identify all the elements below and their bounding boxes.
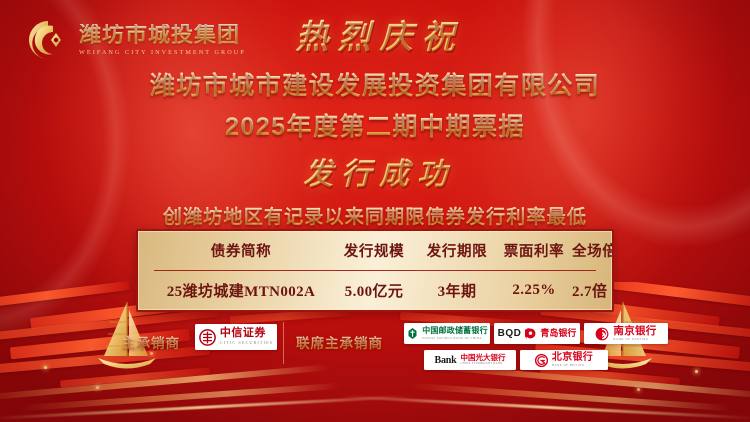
bank-of-beijing-logo: 北京银行 BANK OF BEIJING [520, 350, 608, 370]
bqd-name-cn: 青岛银行 [540, 329, 576, 338]
ceb-name-cn: 中国光大银行 [461, 354, 506, 362]
cell-subscription-multiple: 2.7倍 [572, 280, 607, 301]
company-name-title: 潍坊市城市建设发展投资集团有限公司 [0, 66, 750, 102]
column-header-term: 发行期限 [418, 240, 496, 261]
subtitle-text: 创潍坊地区有记录以来同期限债券发行利率最低 [0, 202, 750, 229]
bank-of-nanjing-logo: 南京银行 BANK OF NANJING [584, 323, 668, 344]
citic-securities-logo: 中信证券 CITIC SECURITIES [195, 324, 277, 350]
underwriter-divider [283, 322, 284, 364]
underwriter-strip: 主承销商 中信证券 CITIC SECURITIES 联席主承销商 中国邮政储蓄… [0, 320, 750, 382]
issue-title: 2025年度第二期中期票据 [0, 107, 750, 143]
cell-bond-name: 25潍坊城建MTN002A [152, 280, 330, 301]
citic-name-cn: 中信证券 [220, 328, 273, 339]
column-header-bond-name: 债券简称 [152, 240, 330, 261]
citic-securities-logo-icon [199, 329, 216, 346]
brand-name-cn: 潍坊市城投集团 [79, 24, 246, 46]
ceb-wordmark: Bank [435, 355, 457, 366]
weifang-crescent-emblem-icon [26, 18, 70, 62]
brand-name-en: WEIFANG CITY INVESTMENT GROUP [79, 50, 246, 56]
psbc-name-cn: 中国邮政储蓄银行 [422, 327, 488, 335]
lead-underwriter-label: 主承销商 [122, 332, 180, 352]
column-header-issue-size: 发行规模 [330, 240, 418, 261]
psbc-logo: 中国邮政储蓄银行 POSTAL SAVINGS BANK OF CHINA [404, 323, 490, 344]
table-row: 25潍坊城建MTN002A 5.00亿元 3年期 2.25% 2.7倍 [138, 271, 612, 309]
column-header-coupon-rate: 票面利率 [496, 240, 572, 261]
bob-name-cn: 北京银行 [552, 353, 593, 363]
bank-of-beijing-logo-icon [535, 354, 548, 367]
cell-issue-size: 5.00亿元 [330, 280, 418, 301]
joint-underwriter-label: 联席主承销商 [296, 332, 383, 352]
cell-coupon-rate: 2.25% [496, 282, 572, 299]
psbc-name-en: POSTAL SAVINGS BANK OF CHINA [422, 337, 488, 340]
success-title: 发行成功 [0, 149, 750, 193]
bob-name-en: BANK OF BEIJING [552, 364, 593, 367]
china-everbright-bank-logo: Bank 中国光大银行 CHINA EVERBRIGHT BANK [424, 350, 516, 370]
nanjing-name-en: BANK OF NANJING [613, 338, 656, 341]
ceb-name-en: CHINA EVERBRIGHT BANK [461, 363, 506, 366]
psbc-logo-icon [406, 327, 419, 340]
bond-info-table: 债券简称 发行规模 发行期限 票面利率 全场倍数 25潍坊城建MTN002A 5… [136, 229, 614, 312]
bqd-wordmark: BQD [498, 328, 522, 339]
celebration-banner: 潍坊市城投集团 WEIFANG CITY INVESTMENT GROUP 热烈… [0, 0, 750, 422]
nanjing-name-cn: 南京银行 [613, 326, 656, 337]
brand-logo: 潍坊市城投集团 WEIFANG CITY INVESTMENT GROUP [26, 18, 246, 62]
table-divider [154, 270, 596, 271]
cell-term: 3年期 [418, 280, 496, 301]
bank-of-qingdao-logo: BQD 青岛银行 [494, 323, 580, 344]
bank-of-qingdao-logo-icon [525, 328, 536, 339]
citic-name-en: CITIC SECURITIES [220, 341, 273, 345]
table-header-row: 债券简称 发行规模 发行期限 票面利率 全场倍数 [138, 231, 612, 270]
column-header-subscription-multiple: 全场倍数 [572, 240, 614, 261]
bank-of-nanjing-logo-icon [595, 327, 609, 341]
